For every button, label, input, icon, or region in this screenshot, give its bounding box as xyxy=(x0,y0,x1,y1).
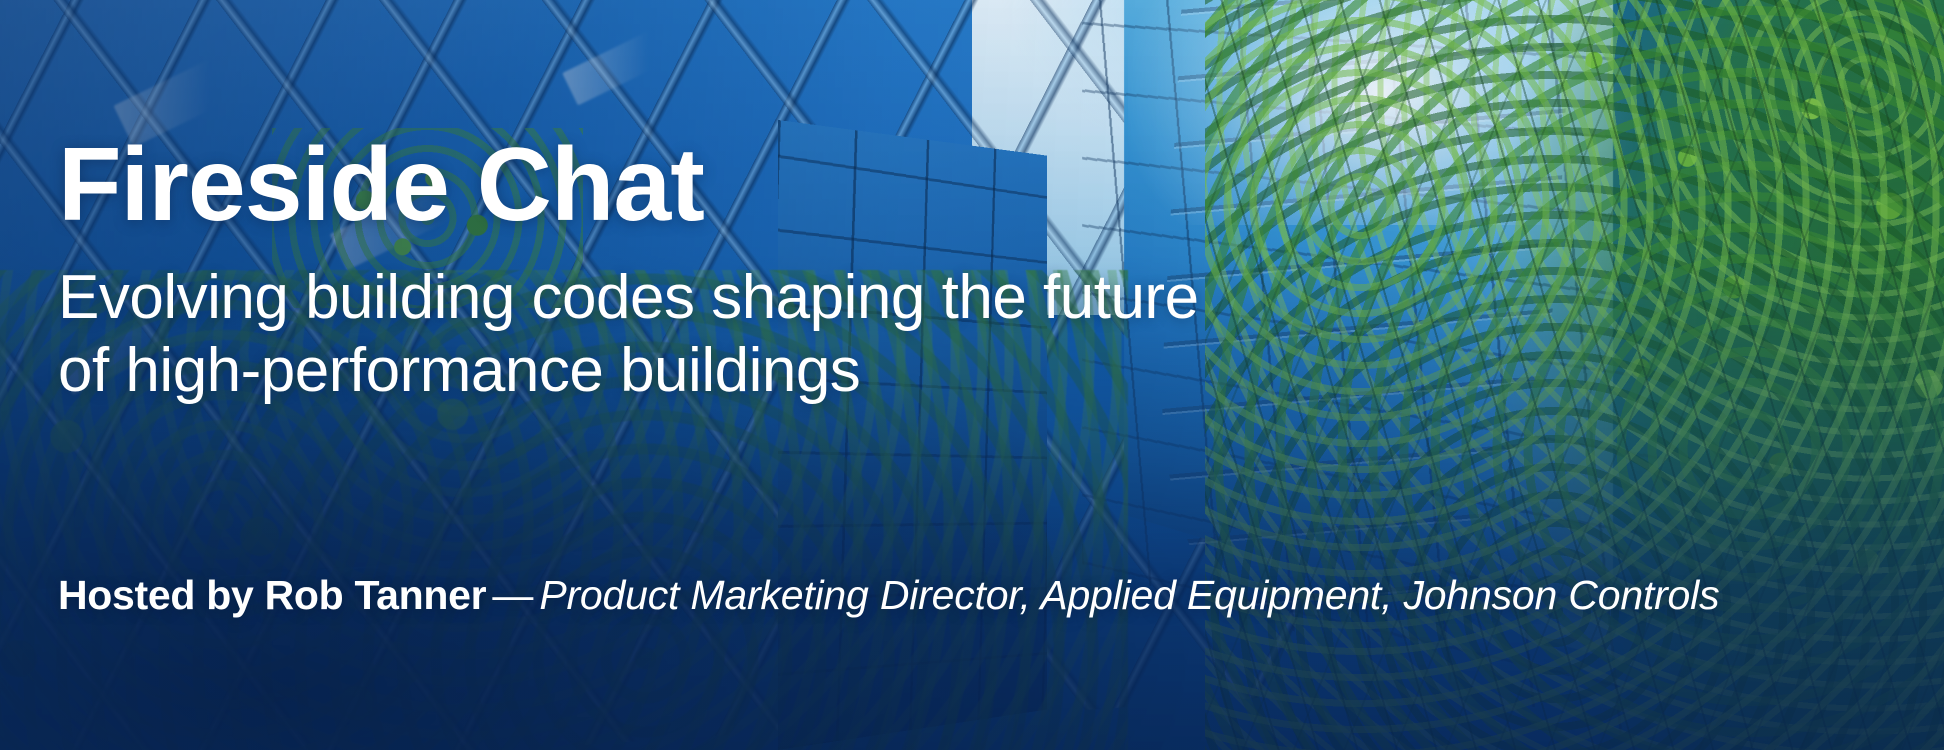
host-separator-dash: — xyxy=(486,572,539,618)
banner-content: Fireside Chat Evolving building codes sh… xyxy=(58,0,1918,750)
fireside-chat-banner: Fireside Chat Evolving building codes sh… xyxy=(0,0,1944,750)
subtitle-line-1: Evolving building codes shaping the futu… xyxy=(58,262,1199,335)
host-line: Hosted by Rob Tanner—Product Marketing D… xyxy=(58,573,1719,618)
banner-subtitle: Evolving building codes shaping the futu… xyxy=(58,262,1199,407)
host-name: Hosted by Rob Tanner xyxy=(58,572,486,618)
banner-title: Fireside Chat xyxy=(58,132,704,238)
subtitle-line-2: of high-performance buildings xyxy=(58,335,1199,408)
host-role: Product Marketing Director, Applied Equi… xyxy=(539,572,1719,618)
